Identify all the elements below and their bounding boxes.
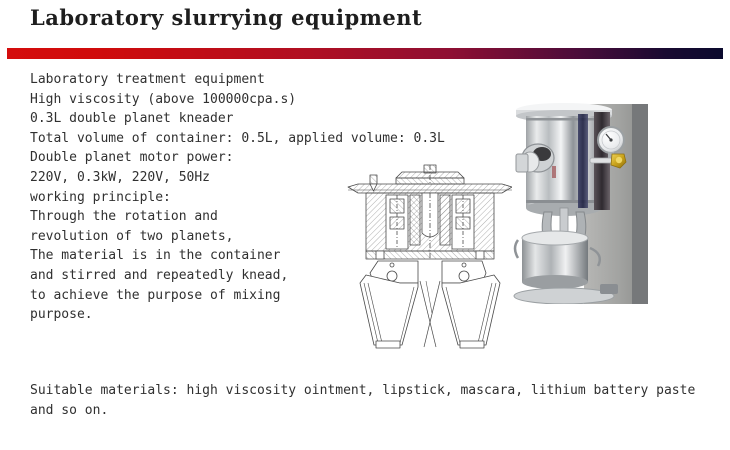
blue-tinted-column: [578, 114, 588, 208]
vessel-marking: [552, 166, 556, 178]
gradient-divider-bar: [7, 44, 723, 55]
lab-mixer-photograph: [512, 62, 648, 304]
cad-planet-shaft-right: [452, 195, 474, 249]
cad-scraper-arms: [420, 281, 440, 347]
cad-housing-base-plate: [366, 251, 494, 259]
page-title: Laboratory slurrying equipment: [30, 5, 422, 30]
cad-drawing-svg: [340, 163, 520, 358]
lab-mixer-photo-svg: [512, 62, 648, 304]
cad-kneading-blade-left: [360, 275, 418, 348]
footer-line: and so on.: [30, 401, 700, 421]
lower-bowl: [515, 231, 600, 289]
frame-edge-shadow: [632, 104, 648, 304]
suitable-materials-note: Suitable materials: high viscosity ointm…: [30, 381, 700, 420]
double-planetary-blade-cad-drawing: [340, 163, 520, 358]
cad-planet-shaft-left: [386, 195, 408, 249]
cad-top-hub: [396, 165, 464, 184]
cad-kneading-blade-right: [442, 275, 500, 348]
media-area: [330, 58, 720, 368]
cad-gearbox-housing: [366, 193, 494, 259]
footer-line: Suitable materials: high viscosity ointm…: [30, 381, 700, 401]
